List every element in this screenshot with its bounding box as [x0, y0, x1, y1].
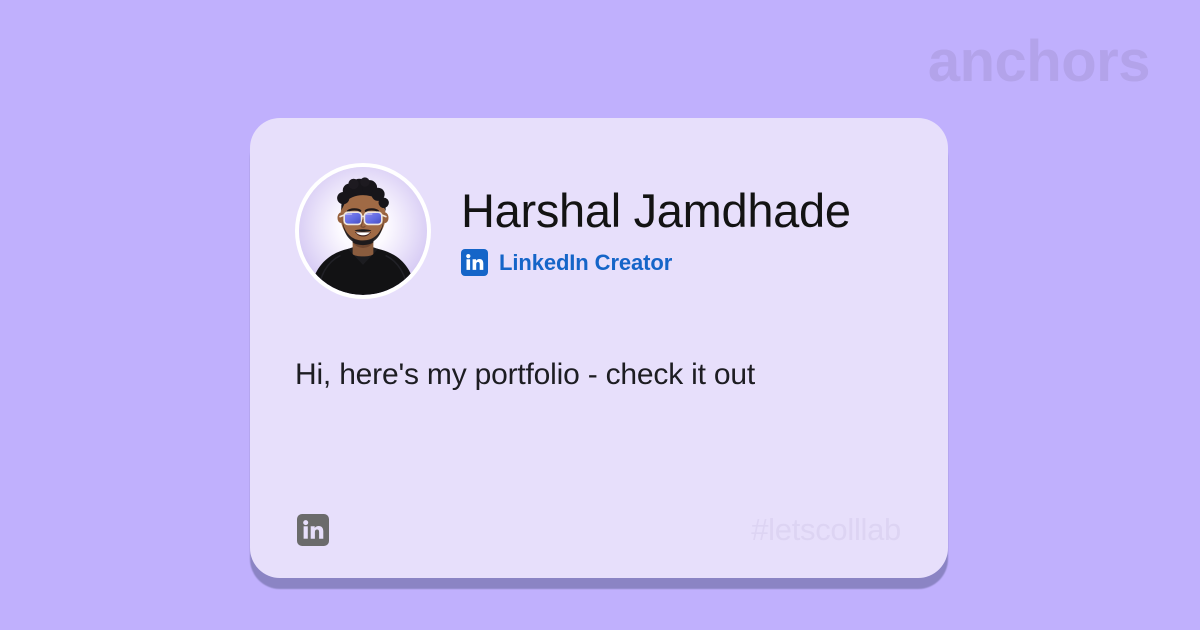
- avatar: [295, 163, 431, 299]
- profile-card: Harshal Jamdhade LinkedIn Creator Hi, he…: [250, 118, 948, 578]
- profile-card-wrapper: Harshal Jamdhade LinkedIn Creator Hi, he…: [250, 118, 948, 578]
- card-footer: #letscolllab: [250, 482, 948, 578]
- hashtag-label: #letscolllab: [751, 512, 901, 548]
- anchors-watermark: anchors: [928, 33, 1150, 91]
- avatar-image-frame: [299, 167, 427, 295]
- creator-badge-row: LinkedIn Creator: [461, 249, 851, 276]
- avatar-photo: [299, 167, 427, 295]
- card-message: Hi, here's my portfolio - check it out: [250, 299, 948, 394]
- person-name: Harshal Jamdhade: [461, 186, 851, 235]
- linkedin-icon-footer[interactable]: [297, 514, 329, 546]
- linkedin-icon: [461, 249, 488, 276]
- creator-label: LinkedIn Creator: [499, 250, 672, 276]
- card-header: Harshal Jamdhade LinkedIn Creator: [250, 118, 948, 299]
- identity-block: Harshal Jamdhade LinkedIn Creator: [461, 186, 851, 276]
